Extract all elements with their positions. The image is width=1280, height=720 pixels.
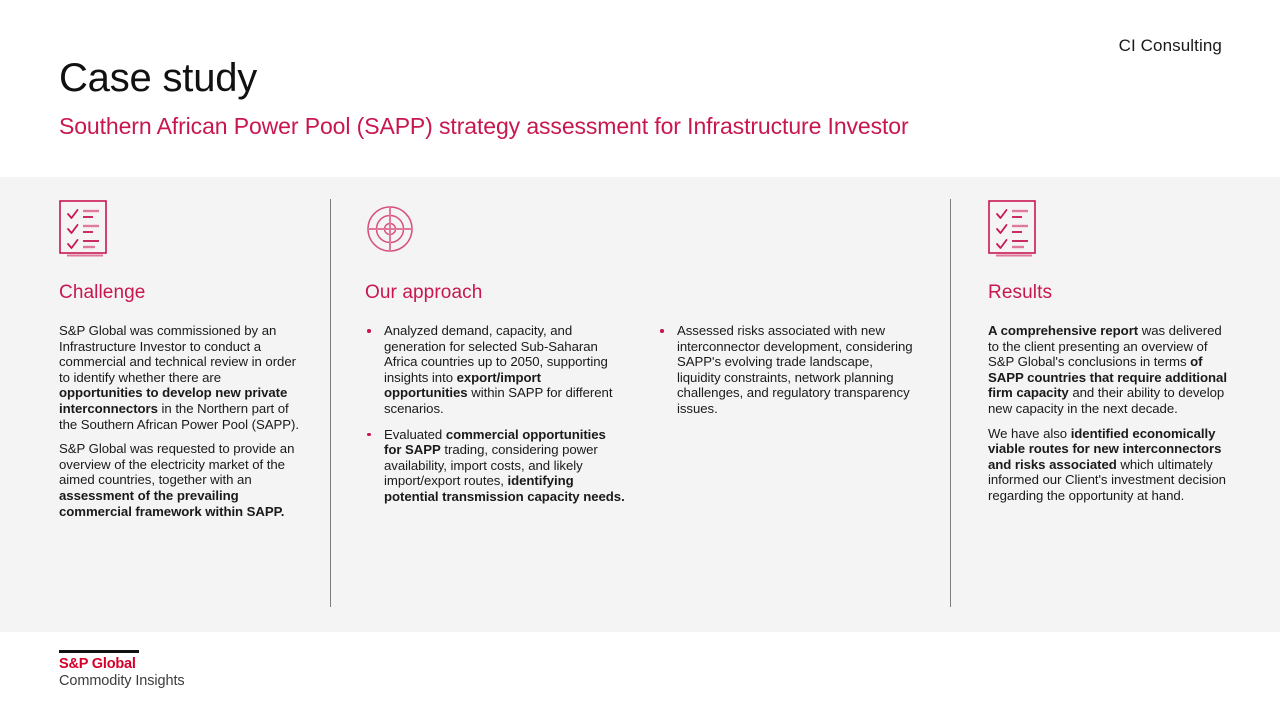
sp-global-logo: S&P Global Commodity Insights: [59, 650, 185, 690]
page-subtitle: Southern African Power Pool (SAPP) strat…: [59, 113, 909, 141]
paragraph: S&P Global was requested to provide an o…: [59, 441, 304, 519]
column-heading-results: Results: [988, 282, 1052, 304]
list-item-text: Analyzed demand, capacity, and generatio…: [384, 323, 612, 416]
page-title: Case study: [59, 55, 257, 101]
bullet-dot-icon: [367, 329, 371, 333]
checklist-document-icon: [59, 200, 111, 258]
bullet-list-approach-right: Assessed risks associated with new inter…: [658, 323, 916, 417]
list-item: Evaluated commercial opportunities for S…: [365, 427, 625, 505]
column-body-challenge: S&P Global was commissioned by an Infras…: [59, 323, 304, 519]
logo-secondary-text: Commodity Insights: [59, 673, 185, 690]
list-item-text: Evaluated commercial opportunities for S…: [384, 427, 625, 504]
column-body-approach: Analyzed demand, capacity, and generatio…: [365, 323, 625, 505]
column-body-results: A comprehensive report was delivered to …: [988, 323, 1228, 504]
bullet-list-approach-left: Analyzed demand, capacity, and generatio…: [365, 323, 625, 505]
logo-primary-text: S&P Global: [59, 656, 185, 673]
column-heading-challenge: Challenge: [59, 282, 145, 304]
column-body-approach-secondary: Assessed risks associated with new inter…: [658, 323, 916, 417]
content-panel: Challenge S&P Global was commissioned by…: [0, 177, 1280, 632]
bullet-dot-icon: [660, 329, 664, 333]
paragraph: We have also identified economically via…: [988, 426, 1228, 504]
list-item: Analyzed demand, capacity, and generatio…: [365, 323, 625, 417]
column-divider-right: [950, 199, 951, 607]
slide-footer: S&P Global Commodity Insights: [0, 632, 1280, 720]
paragraph: S&P Global was commissioned by an Infras…: [59, 323, 304, 432]
brand-tag: CI Consulting: [1119, 36, 1222, 56]
slide-header: CI Consulting Case study Southern Africa…: [0, 0, 1280, 177]
checklist-document-icon: [988, 200, 1040, 258]
list-item-text: Assessed risks associated with new inter…: [677, 323, 913, 416]
paragraph: A comprehensive report was delivered to …: [988, 323, 1228, 417]
column-divider-left: [330, 199, 331, 607]
target-crosshair-icon: [365, 204, 415, 254]
list-item: Assessed risks associated with new inter…: [658, 323, 916, 417]
bullet-dot-icon: [367, 433, 371, 437]
logo-rule: [59, 650, 139, 653]
column-heading-approach: Our approach: [365, 282, 482, 304]
